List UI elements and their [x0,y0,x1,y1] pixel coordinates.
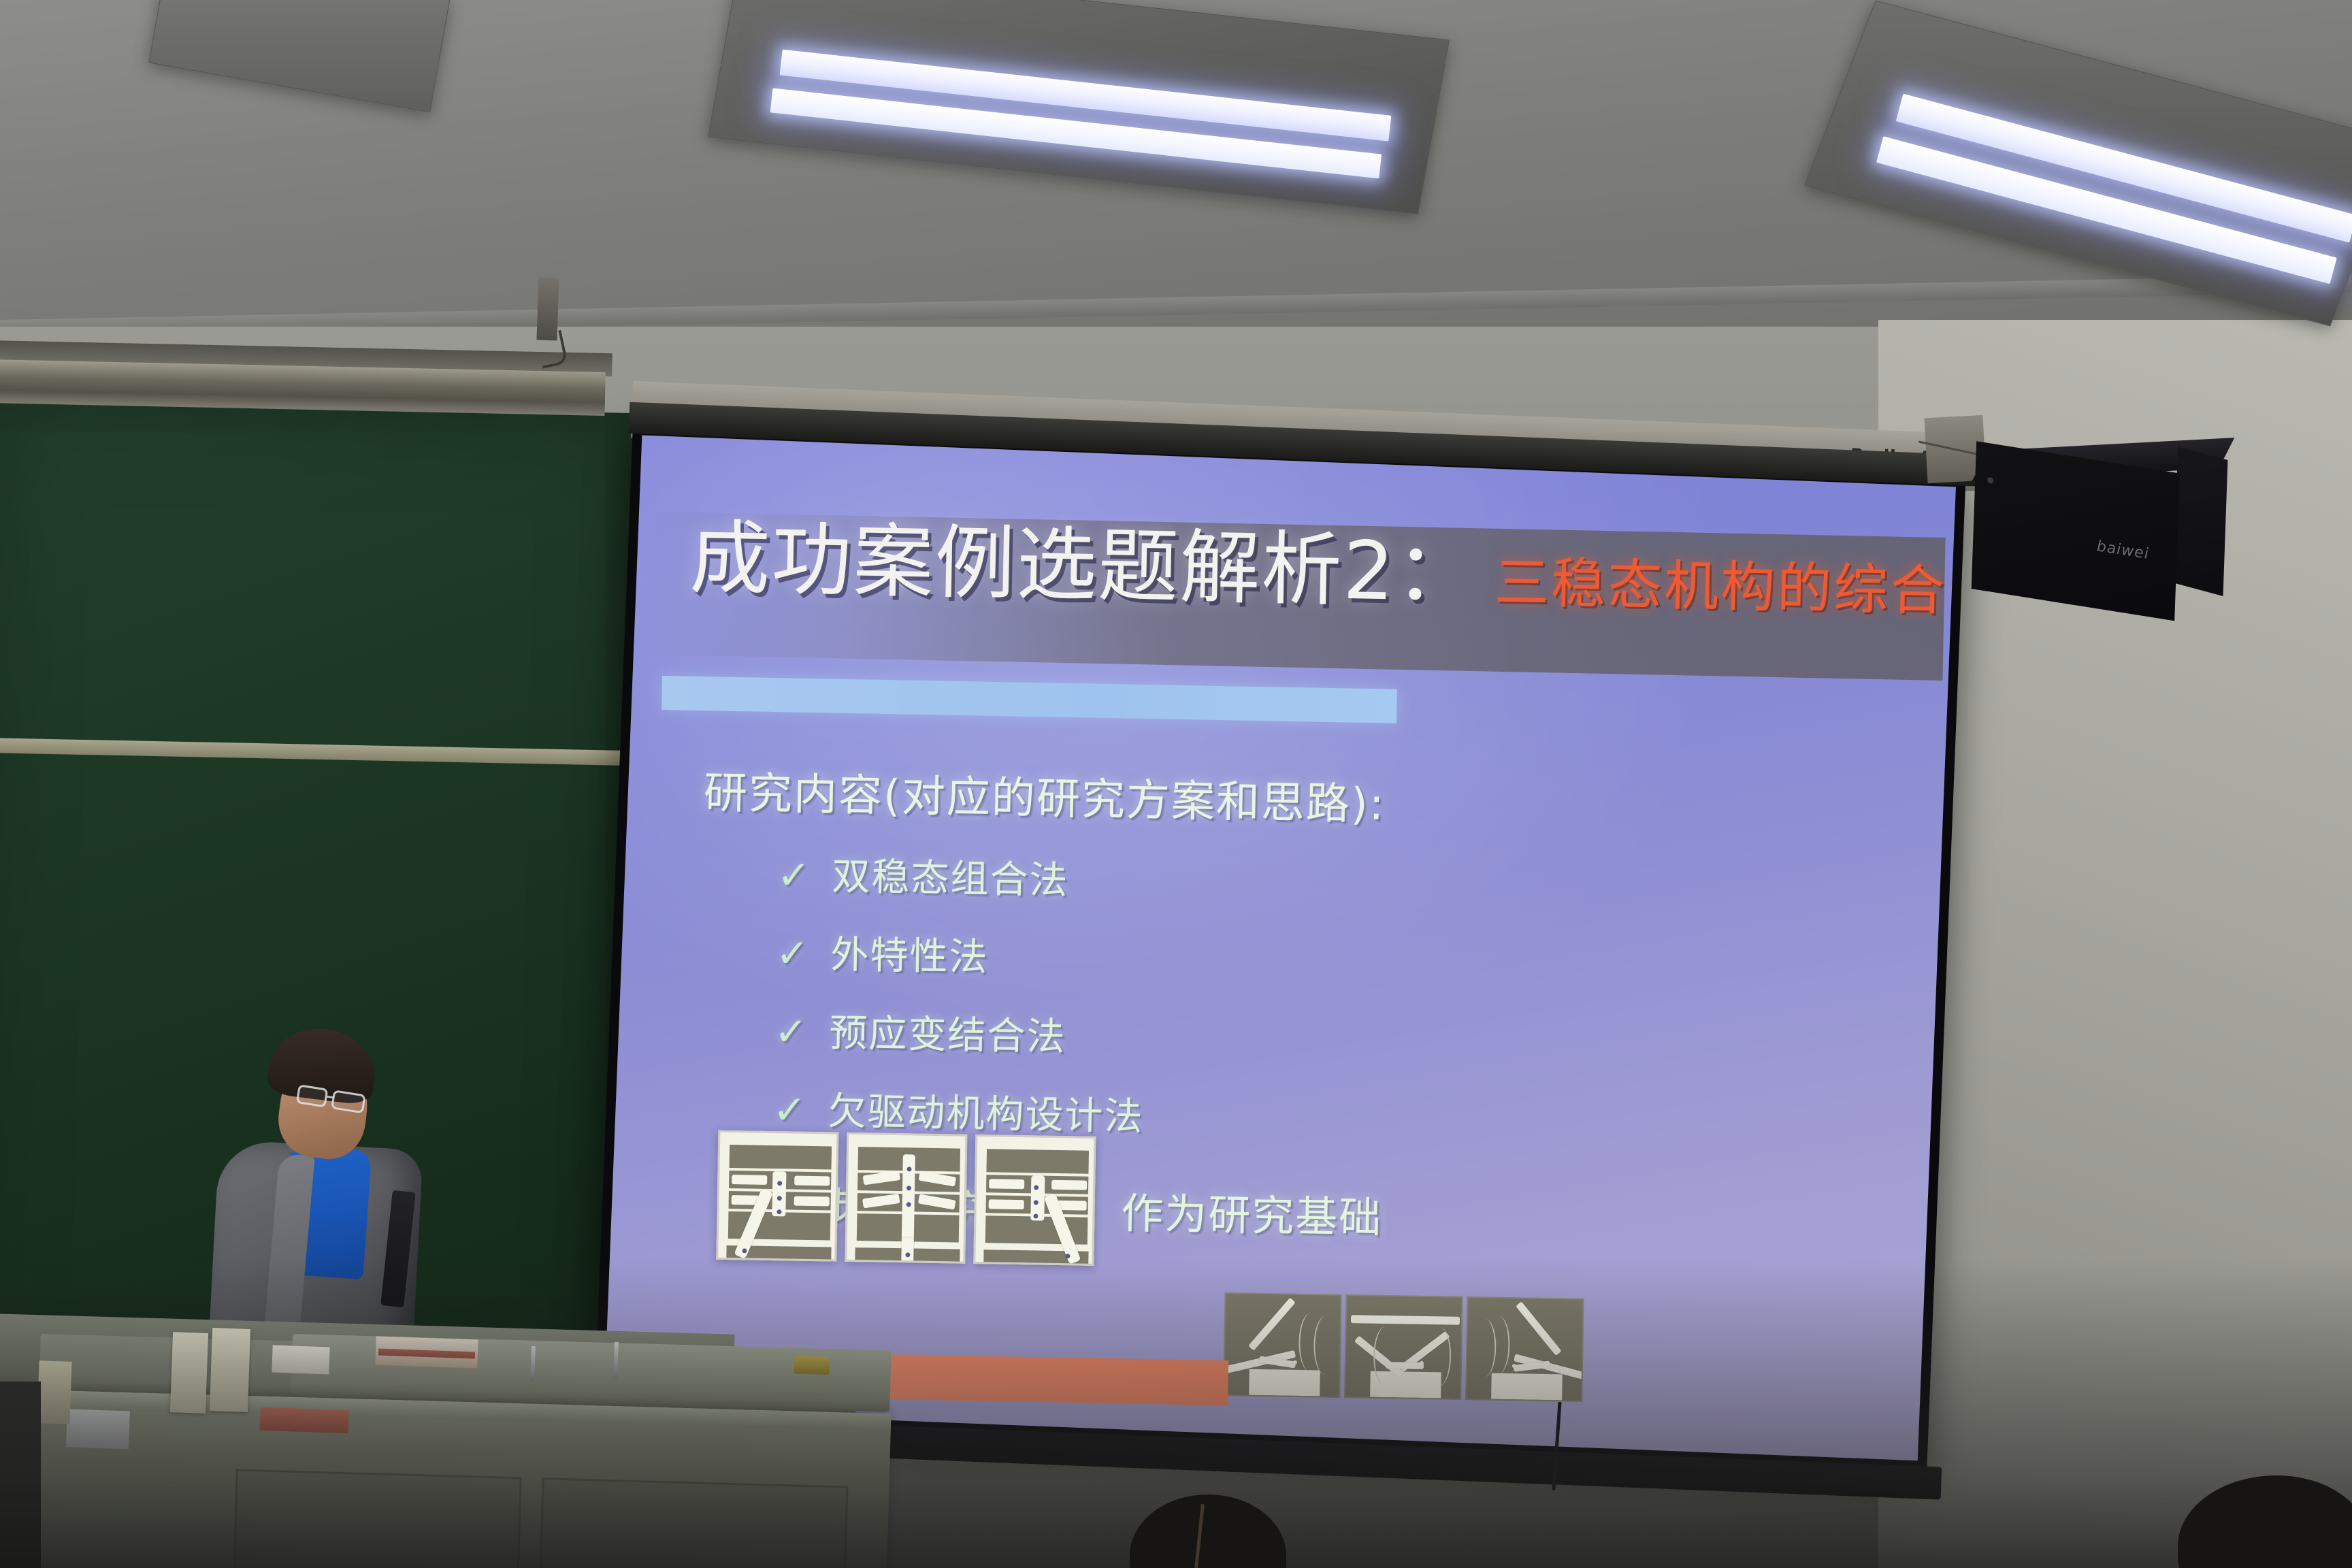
joint-pin [777,1181,782,1186]
flexure-segment [989,1199,1024,1209]
joint-pin [905,1252,910,1257]
figure-row-tristable-states [716,1130,1096,1266]
slide-title-subtitle: 三稳态机构的综合 [1494,555,1946,619]
wall-speaker: baiwei [1971,442,2228,610]
substrate-band [730,1145,832,1169]
check-list-item-label: 预应变结合法 [829,1002,1066,1062]
joint-pin [1034,1185,1039,1190]
check-list-item: ✓ 外特性法 [775,923,1790,996]
speaker-screw-icon [1987,477,1993,484]
flexure-segment [794,1196,830,1207]
slide-title-row: 成功案例选题解析2： 三稳态机构的综合 [688,517,1956,678]
title-accent-bar [661,676,1397,723]
slide-lead-line: 研究内容(对应的研究方案和思路): [703,757,1793,839]
joint-pin [906,1166,911,1171]
check-list-item: ✓ 双稳态组合法 [777,845,1791,917]
flexure-segment [794,1176,830,1186]
lecture-hall-scene: Redleaf 成功案例选题解析2： 三稳态机构的综合 研究内容(对应的研究方案… [0,0,2352,1568]
center-shuttle [1030,1175,1045,1220]
mechanism-panel-state-right [973,1134,1096,1266]
joint-pin [906,1186,911,1190]
speaker-front-face [1972,441,2180,621]
joint-pin [777,1196,782,1200]
check-list-item-label: 外特性法 [830,924,989,982]
glasses-lens-left [296,1084,329,1108]
joint-pin [1033,1213,1038,1218]
joint-pin [1034,1200,1039,1205]
mechanism-panel-state-left [716,1130,838,1262]
screen-hook-bracket [536,278,559,341]
check-list-item-label: 欠驱动机构设计法 [828,1081,1144,1141]
speaker-side-face [2173,446,2227,596]
check-icon: ✓ [774,1008,809,1055]
check-list-item-label: 双稳态组合法 [832,846,1069,905]
slide-title-main: 成功案例选题解析2： [689,517,1477,612]
flexure-segment [732,1175,767,1185]
check-icon: ✓ [775,930,811,977]
joint-pin [742,1248,747,1253]
joint-pin [1065,1254,1070,1258]
flexure-segment [1051,1180,1087,1190]
mechanism-panel-state-center [845,1132,967,1264]
flexure-segment [989,1179,1024,1189]
chalkboard-divider-strip [0,738,633,766]
joint-pin [906,1202,911,1207]
substrate-band [986,1149,1089,1173]
check-icon: ✓ [772,1086,808,1133]
check-list-item: ✓ 预应变结合法 [774,1001,1788,1074]
joint-pin [777,1209,781,1214]
check-icon: ✓ [777,851,812,898]
